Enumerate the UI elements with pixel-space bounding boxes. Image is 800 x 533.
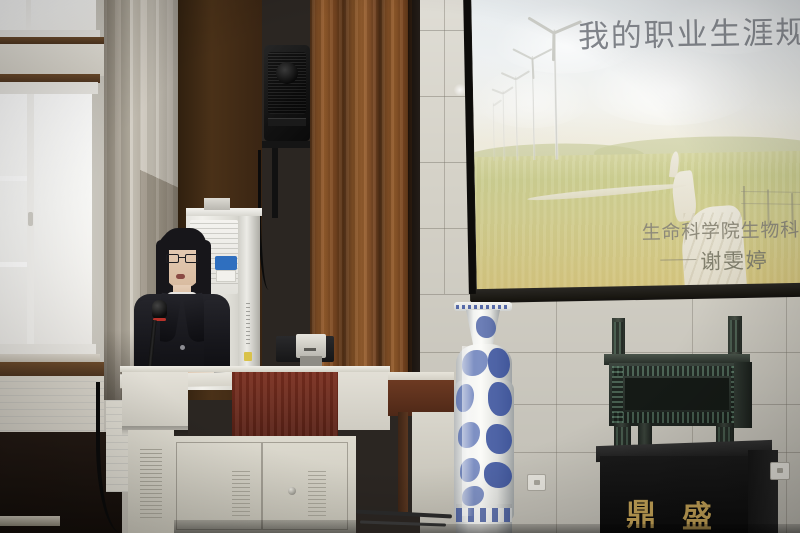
ding-ornament-bottom [612,412,742,423]
vase-motif-body-4 [486,424,512,454]
tile-line-v-4 [786,294,787,533]
vase-motif-neck [476,316,496,338]
podium-monitor-face [296,334,326,358]
pedestal [600,456,752,533]
vase-motif-body-2 [488,382,512,416]
podium-monitor-stand [300,356,322,366]
furniture-highlight [0,516,60,526]
vase-highlight [462,346,474,516]
floor-shadow [420,524,800,533]
window-upper-mullion [26,0,31,34]
podium-front-wood-grain [232,366,338,436]
tile-line-v-1 [444,0,445,294]
air-conditioner-text-strip [246,300,250,344]
radiator-grille [0,376,104,438]
window-head-trim [0,37,106,44]
podium-cabinet-lock[interactable] [288,487,296,495]
microphone-head [152,300,167,319]
wall-outlet-left-port [534,480,540,485]
pa-speaker-badge [268,118,306,126]
wall-outlet-right-port [777,468,783,473]
ac-top-box [204,198,230,210]
air-conditioner-warning-label [244,352,252,361]
side-desk-panel [412,412,456,516]
pa-speaker-driver [276,62,298,84]
presenter-jacket-button [180,345,185,350]
vase-rim-pattern [456,305,510,309]
presenter-arm-right [204,300,230,374]
window-bar-upper [0,176,27,181]
podium-pedestal-louver [140,448,162,518]
podium-cabinet-louver-right [308,468,326,516]
side-desk-leg [398,412,408,512]
window-bar-lower [0,262,27,267]
window-base-trim [0,362,104,376]
projection-screen: 我的职业生涯规划 生命科学院生物科 谢雯婷 [471,0,800,291]
presenter-glasses-bridge [179,257,185,258]
slide-glare [471,0,800,291]
ding-side-face [734,362,752,428]
tile-line-v-2 [556,294,557,533]
pa-speaker-bracket [262,141,312,148]
ding-ornament-left [612,366,623,423]
window-main-head [0,82,98,94]
podium-right-panel [338,366,390,430]
vase-motif-shoulder-2 [488,348,510,378]
vase-motif-body-6 [484,462,512,488]
presenter-glasses-left-lens [166,254,179,263]
ding-center-panel [625,378,729,410]
wood-column-mid-grain [344,0,380,400]
window-wall-band [0,44,104,76]
ding-ornament-top [612,366,742,376]
presenter-mouth [176,274,185,279]
pa-speaker-cable [258,150,276,290]
window-main-glass [0,94,92,350]
air-conditioner-blue-label[interactable] [215,256,237,270]
air-conditioner-label-text [216,270,236,282]
podium-cabinet-base-shadow [168,520,356,533]
podium-cabinet-door-right[interactable] [262,442,348,530]
podium-top-edge [120,366,390,372]
podium-cabinet-louver-left [232,468,250,516]
side-desk-front [388,380,454,416]
ding-handle-left-ornament [614,322,623,354]
presenter-glasses-right-lens [185,254,198,263]
window-handle[interactable] [28,212,33,226]
podium-monitor-slot [304,348,316,351]
ding-handle-right-ornament [730,320,740,352]
podium-left-panel [122,370,188,430]
window-upper-glass [0,0,96,34]
photograph-scene: 我的职业生涯规划 生命科学院生物科 谢雯婷 [0,0,800,533]
